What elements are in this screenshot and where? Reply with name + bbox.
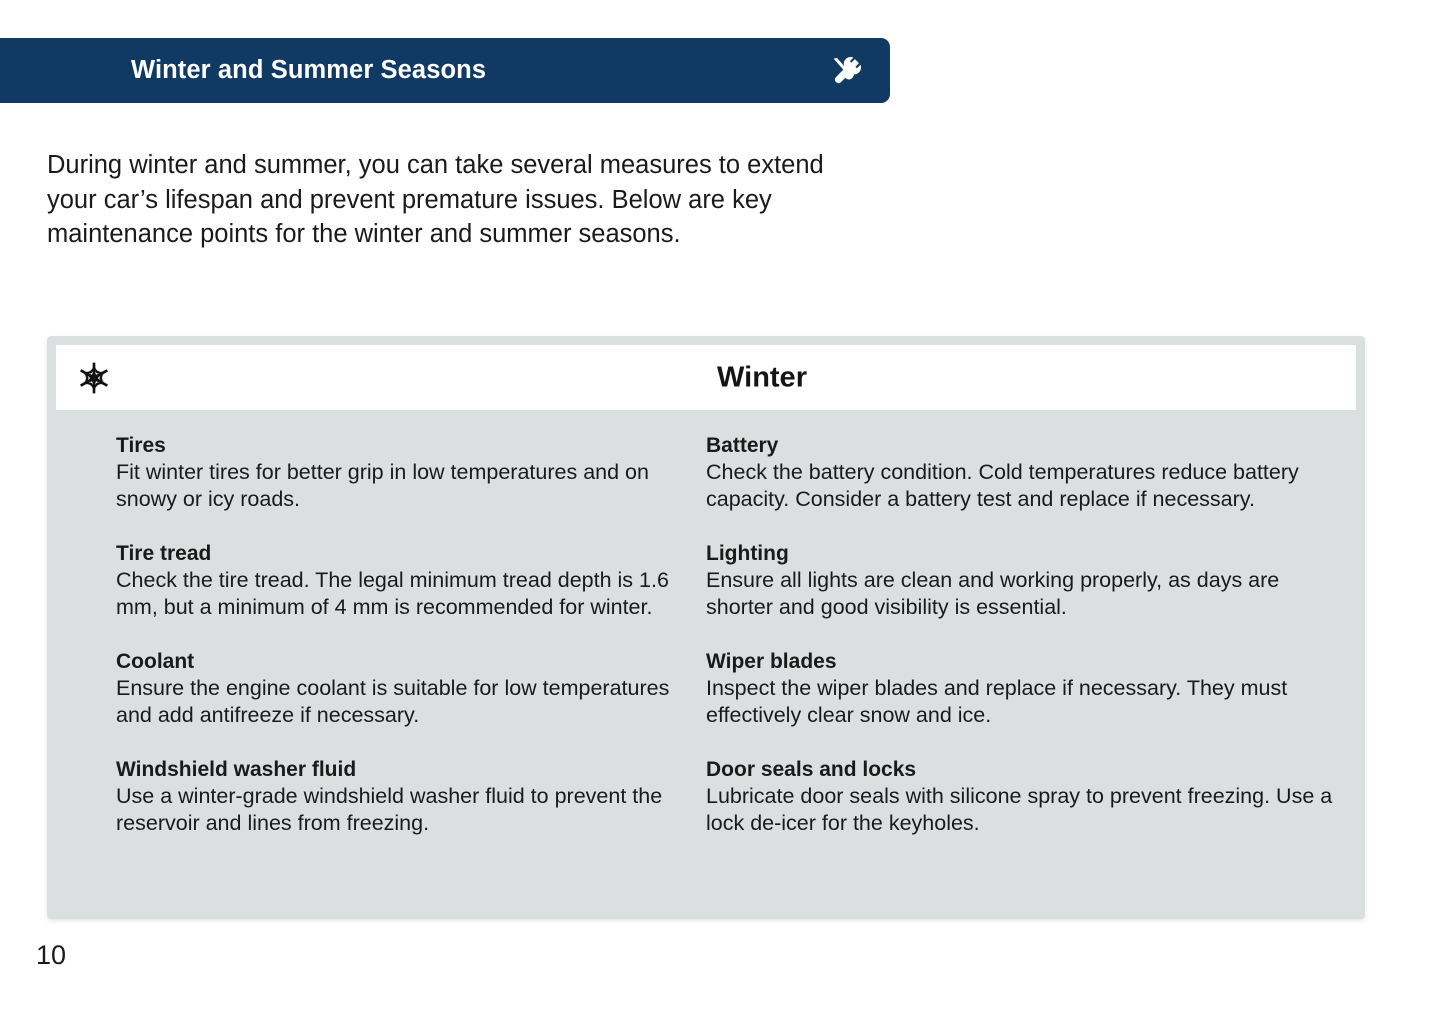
entry-body: Inspect the wiper blades and replace if … [706, 675, 1337, 729]
entry-body: Check the tire tread. The legal minimum … [116, 567, 682, 621]
season-card-left-column: Tires Fit winter tires for better grip i… [47, 432, 702, 837]
entry-title: Tire tread [116, 540, 682, 567]
entry-body: Ensure the engine coolant is suitable fo… [116, 675, 682, 729]
season-title: Winter [652, 361, 872, 394]
snowflake-icon [77, 361, 111, 395]
entry-body: Ensure all lights are clean and working … [706, 567, 1337, 621]
maintenance-entry: Tires Fit winter tires for better grip i… [116, 432, 682, 513]
maintenance-entry: Wiper blades Inspect the wiper blades an… [706, 648, 1337, 729]
entry-body: Fit winter tires for better grip in low … [116, 459, 682, 513]
entry-title: Door seals and locks [706, 756, 1337, 783]
maintenance-entry: Windshield washer fluid Use a winter-gra… [116, 756, 682, 837]
maintenance-entry: Battery Check the battery condition. Col… [706, 432, 1337, 513]
maintenance-entry: Lighting Ensure all lights are clean and… [706, 540, 1337, 621]
maintenance-entry: Door seals and locks Lubricate door seal… [706, 756, 1337, 837]
page-header-banner: Winter and Summer Seasons [0, 38, 890, 103]
winter-season-card: Winter Tires Fit winter tires for better… [47, 336, 1365, 919]
season-card-columns: Tires Fit winter tires for better grip i… [47, 432, 1365, 837]
page-title: Winter and Summer Seasons [131, 56, 486, 85]
maintenance-entry: Tire tread Check the tire tread. The leg… [116, 540, 682, 621]
maintenance-entry: Coolant Ensure the engine coolant is sui… [116, 648, 682, 729]
season-card-right-column: Battery Check the battery condition. Col… [702, 432, 1365, 837]
entry-title: Windshield washer fluid [116, 756, 682, 783]
tools-wrench-screwdriver-icon [830, 54, 864, 88]
entry-title: Tires [116, 432, 682, 459]
entry-title: Coolant [116, 648, 682, 675]
entry-title: Lighting [706, 540, 1337, 567]
entry-title: Battery [706, 432, 1337, 459]
entry-body: Check the battery condition. Cold temper… [706, 459, 1337, 513]
entry-body: Lubricate door seals with silicone spray… [706, 783, 1337, 837]
page-number: 10 [36, 942, 66, 969]
season-card-titlebar: Winter [56, 345, 1356, 410]
intro-paragraph: During winter and summer, you can take s… [47, 148, 877, 252]
entry-body: Use a winter-grade windshield washer flu… [116, 783, 682, 837]
entry-title: Wiper blades [706, 648, 1337, 675]
